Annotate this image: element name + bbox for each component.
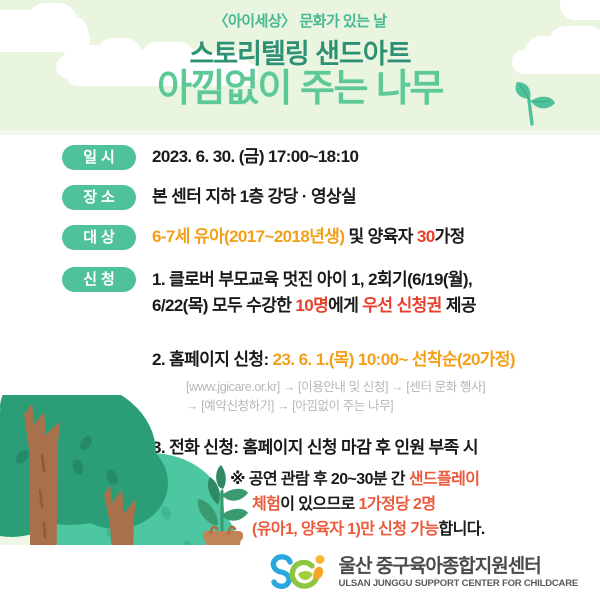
label-pill-target: 대상 xyxy=(62,225,136,250)
note-experience-highlight: 체험 xyxy=(252,496,280,513)
note-line-2: 체험이 있으므로 1가정당 2명 xyxy=(230,493,485,518)
apply-item1-priority: 우선 신청권 xyxy=(362,296,441,315)
apply-item-3: 3. 전화 신청: 홈페이지 신청 마감 후 인원 부족 시 xyxy=(152,433,478,458)
note-line3-b: 합니다. xyxy=(438,521,484,538)
note-line1-a: ※ 공연 관람 후 20~30분 간 xyxy=(230,471,409,488)
apply-item2-schedule: 23. 6. 1.(목) 10:00~ 선착순(20가정) xyxy=(273,350,515,369)
apply-item1-line1: 1. 클로버 부모교육 멋진 아이 1, 2회기(6/19(월), xyxy=(152,267,476,293)
header-sky-background: 〈아이세상〉 문화가 있는 날 스토리텔링 샌드아트 아낌없이 주는 나무 xyxy=(0,0,600,133)
apply-item1-line2-c: 에게 xyxy=(328,296,362,315)
main-title-line1: 스토리텔링 샌드아트 xyxy=(0,40,600,68)
apply-item1-line2-a: 6/22(목) 모두 수강한 xyxy=(152,296,295,315)
apply-item-2: 2. 홈페이지 신청: 23. 6. 1.(목) 10:00~ 선착순(20가정… xyxy=(152,345,515,370)
target-age-text: 6-7세 유아(2017~2018년생) xyxy=(152,227,344,246)
content-area: 일시 2023. 6. 30. (금) 17:00~18:10 장소 본 센터 … xyxy=(0,135,600,545)
note-composition-highlight: (유아1, 양육자 1)만 신청 가능 xyxy=(252,521,438,538)
apply-item1-line2-e: 제공 xyxy=(442,296,476,315)
note-limit-highlight: 1가정당 2명 xyxy=(359,496,436,513)
note-line2-b: 이 있으므로 xyxy=(280,496,358,513)
footer-bar: 울산 중구육아종합지원센터 ULSAN JUNGGU SUPPORT CENTE… xyxy=(0,545,600,600)
sc-logo-icon xyxy=(268,554,330,592)
pre-title: 〈아이세상〉 문화가 있는 날 xyxy=(0,14,600,29)
info-row-date: 일시 2023. 6. 30. (금) 17:00~18:10 xyxy=(62,145,358,170)
sprout-icon xyxy=(505,74,561,126)
footer-center-name: 울산 중구육아종합지원센터 ULSAN JUNGGU SUPPORT CENTE… xyxy=(339,557,578,589)
label-pill-place: 장소 xyxy=(62,185,136,210)
apply-item1-count: 10명 xyxy=(295,296,328,315)
note-line-3: (유아1, 양육자 1)만 신청 가능합니다. xyxy=(230,518,485,543)
website-path-breadcrumb: [www.jgicare.or.kr] → [이용안내 및 신청] → [센터 … xyxy=(186,378,485,417)
label-pill-date: 일시 xyxy=(62,145,136,170)
value-place: 본 센터 지하 1층 강당 · 영상실 xyxy=(152,185,356,210)
value-date: 2023. 6. 30. (금) 17:00~18:10 xyxy=(152,145,358,170)
info-row-target: 대상 6-7세 유아(2017~2018년생) 및 양육자 30가정 xyxy=(62,225,465,250)
path-line-1: [www.jgicare.or.kr] → [이용안내 및 신청] → [센터 … xyxy=(186,378,485,397)
note-line-1: ※ 공연 관람 후 20~30분 간 샌드플레이 xyxy=(230,468,485,493)
footer-name-korean: 울산 중구육아종합지원센터 xyxy=(339,557,578,576)
apply-item1-line2: 6/22(목) 모두 수강한 10명에게 우선 신청권 제공 xyxy=(152,293,476,319)
value-target: 6-7세 유아(2017~2018년생) 및 양육자 30가정 xyxy=(152,225,465,250)
info-row-place: 장소 본 센터 지하 1층 강당 · 영상실 xyxy=(62,185,356,210)
note-block: ※ 공연 관람 후 20~30분 간 샌드플레이 체험이 있으므로 1가정당 2… xyxy=(230,468,485,542)
info-row-apply: 신청 1. 클로버 부모교육 멋진 아이 1, 2회기(6/19(월), 6/2… xyxy=(62,267,476,318)
label-pill-apply: 신청 xyxy=(62,267,136,292)
poster-root: 〈아이세상〉 문화가 있는 날 스토리텔링 샌드아트 아낌없이 주는 나무 일시… xyxy=(0,0,600,600)
target-count-unit: 가정 xyxy=(435,227,465,246)
note-sandplay-highlight: 샌드플레이 xyxy=(409,471,480,488)
apply-item-1: 1. 클로버 부모교육 멋진 아이 1, 2회기(6/19(월), 6/22(목… xyxy=(152,267,476,318)
target-count-number: 30 xyxy=(417,227,435,246)
footer-name-english: ULSAN JUNGGU SUPPORT CENTER FOR CHILDCAR… xyxy=(339,579,578,589)
target-guardian-text: 및 양육자 xyxy=(344,227,417,246)
apply-item2-label: 2. 홈페이지 신청: xyxy=(152,350,273,369)
path-line-2: → [예약신청하기] → [아낌없이 주는 나무] xyxy=(186,397,485,416)
